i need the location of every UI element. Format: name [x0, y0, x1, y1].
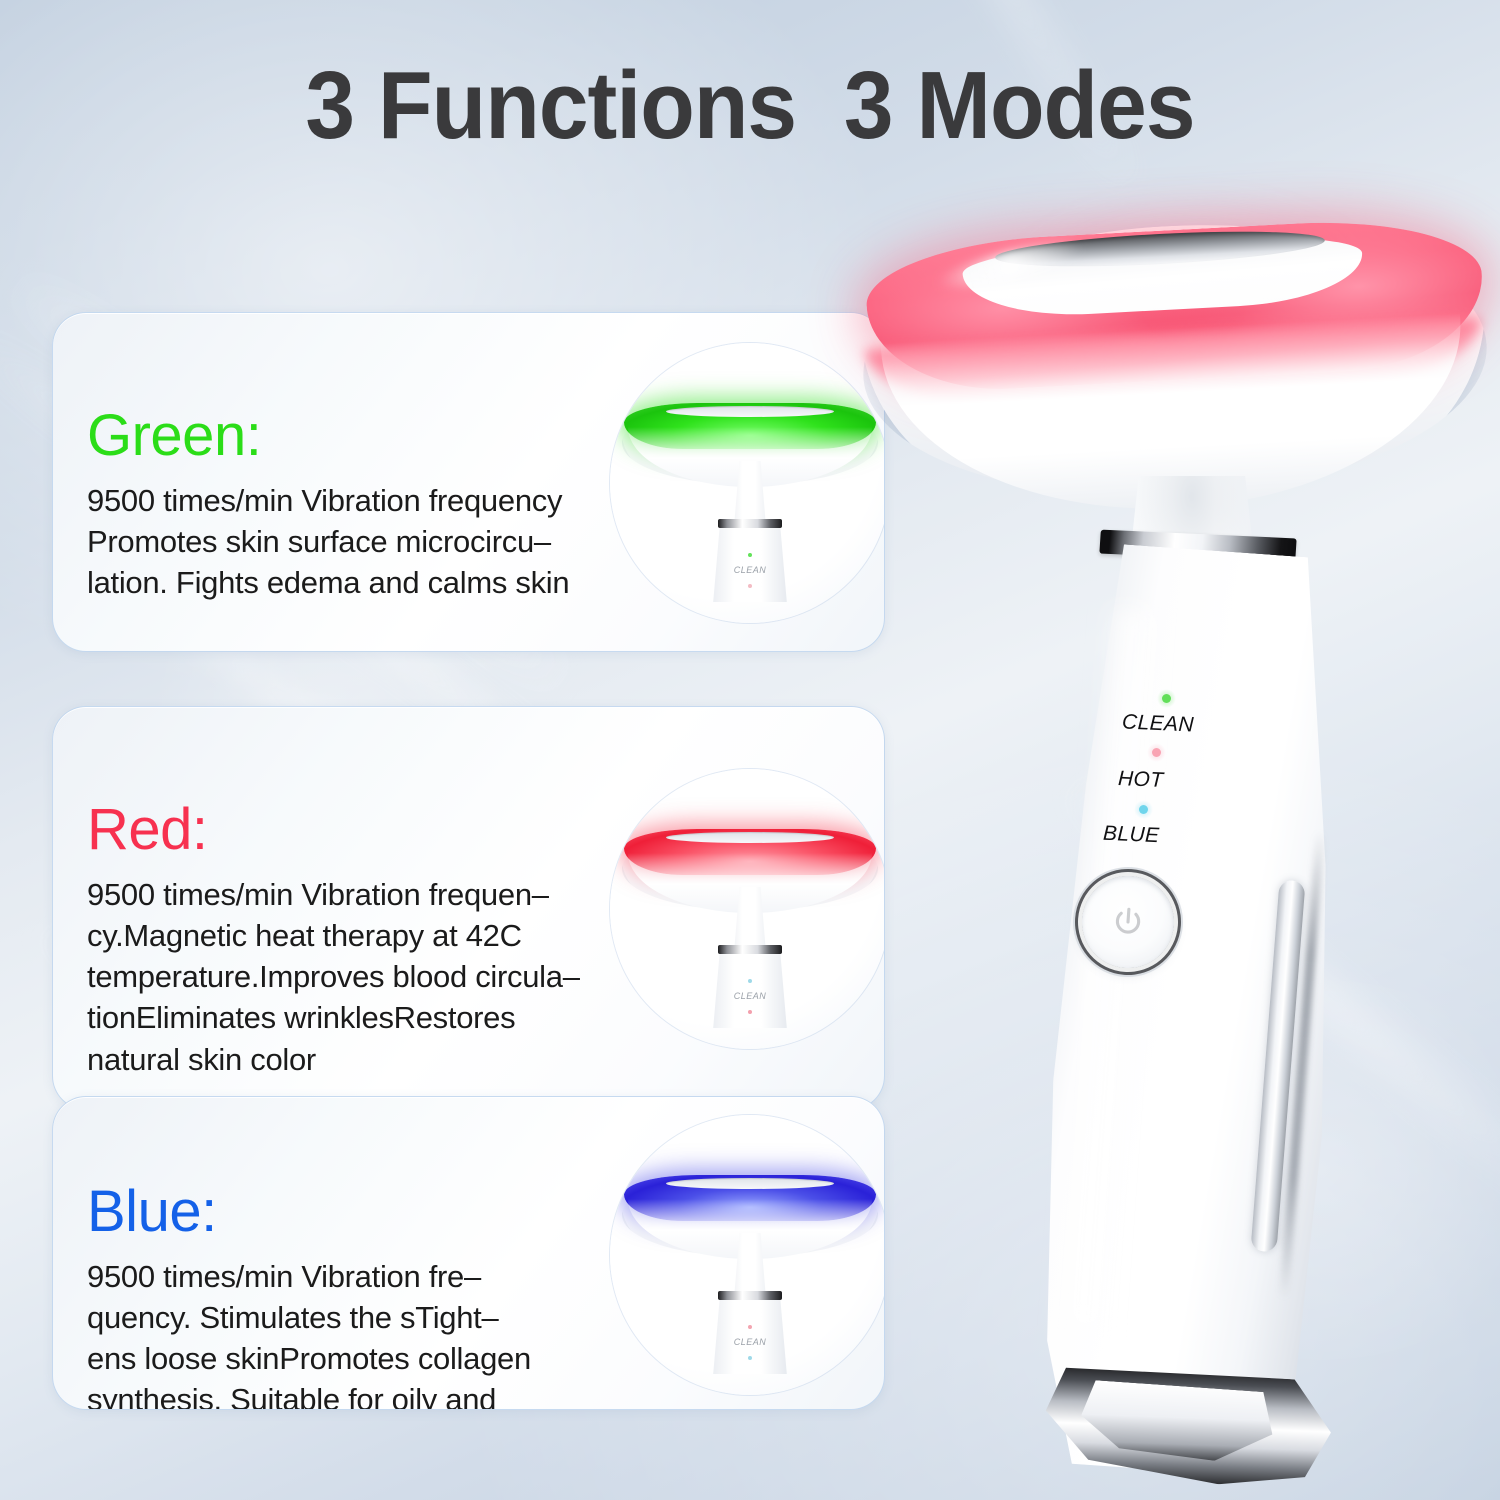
card-text-red: Red: 9500 times/min Vibration frequen– c…	[87, 799, 627, 1080]
device-thumbnail-red: CLEAN	[610, 769, 885, 1049]
card-body-red: 9500 times/min Vibration frequen– cy.Mag…	[87, 874, 627, 1080]
led-label-hot: HOT	[1117, 767, 1164, 793]
mini-slot	[666, 406, 834, 417]
mini-device-red: CLEAN	[610, 769, 885, 1049]
card-body-blue: 9500 times/min Vibration fre– quency. St…	[87, 1256, 627, 1410]
mini-led-dot-blue	[748, 979, 752, 983]
led-label-clean: CLEAN	[1122, 710, 1195, 737]
mini-led-dot-hot	[748, 1010, 752, 1014]
device-thumbnail-blue: CLEAN	[610, 1115, 885, 1395]
mini-chrome-band	[718, 945, 782, 954]
feature-card-red: Red: 9500 times/min Vibration frequen– c…	[52, 706, 885, 1110]
page-title: 3 Functions 3 Modes	[53, 58, 1448, 154]
device-handle	[1005, 541, 1371, 1490]
card-body-green: 9500 times/min Vibration frequency Promo…	[87, 480, 627, 604]
feature-card-green: Green: 9500 times/min Vibration frequenc…	[52, 312, 885, 652]
feature-card-blue: Blue: 9500 times/min Vibration fre– quen…	[52, 1096, 885, 1410]
card-heading-blue: Blue:	[87, 1181, 627, 1244]
mini-device-green: CLEAN	[610, 343, 885, 623]
mini-slot	[666, 1178, 834, 1189]
mini-clean-label: CLEAN	[610, 1337, 885, 1347]
mini-led-dot-clean	[748, 553, 752, 557]
power-icon	[1110, 904, 1146, 940]
mini-clean-label: CLEAN	[610, 991, 885, 1001]
led-dot-clean	[1162, 694, 1171, 703]
card-heading-red: Red:	[87, 799, 627, 862]
mini-led-dot-hot	[748, 1325, 752, 1329]
mini-slot	[666, 832, 834, 843]
mini-led-dot-blue	[748, 1356, 752, 1360]
neck-face-beauty-device	[845, 190, 1500, 1480]
led-label-blue: BLUE	[1103, 822, 1160, 848]
mini-device-blue: CLEAN	[610, 1115, 885, 1395]
product-infographic-page: 3 Functions 3 Modes Green: 9500 times/mi…	[0, 0, 1500, 1500]
card-text-green: Green: 9500 times/min Vibration frequenc…	[87, 405, 627, 603]
card-text-blue: Blue: 9500 times/min Vibration fre– quen…	[87, 1181, 627, 1410]
device-thumbnail-green: CLEAN	[610, 343, 885, 623]
led-dot-blue	[1139, 805, 1148, 814]
mini-chrome-band	[718, 519, 782, 528]
led-dot-hot	[1152, 748, 1161, 757]
mini-led-dot-hot	[748, 584, 752, 588]
mini-clean-label: CLEAN	[610, 565, 885, 575]
mini-chrome-band	[718, 1291, 782, 1300]
card-heading-green: Green:	[87, 405, 627, 468]
